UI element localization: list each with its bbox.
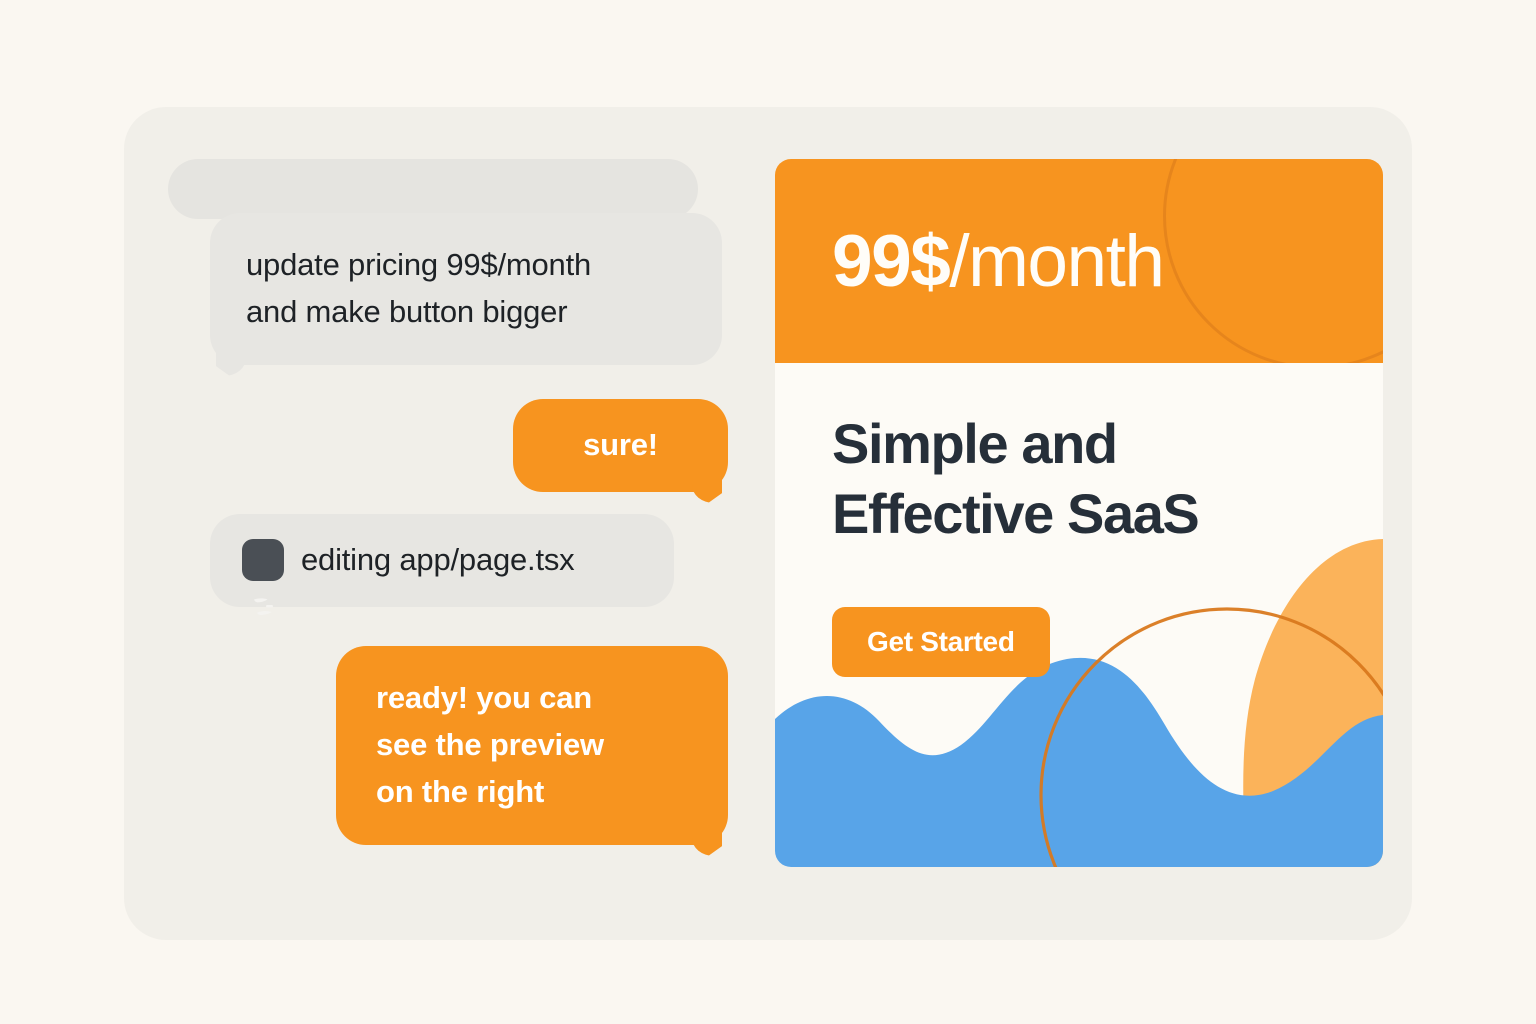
app-window: update pricing 99$/month and make button… [124,107,1412,940]
message-input[interactable] [168,159,698,219]
status-label: editing app/page.tsx [301,536,575,583]
chat-message-assistant-done: ready! you can see the preview on the ri… [336,646,728,845]
code-edit-icon [242,539,284,581]
preview-headline: Simple and Effective SaaS [832,409,1332,549]
get-started-button[interactable]: Get Started [832,607,1050,677]
preview-card: 99$/month Simple and Effective SaaS Get … [775,159,1383,867]
chat-message-status: editing app/page.tsx [210,514,674,607]
chat-message-user: update pricing 99$/month and make button… [210,213,722,365]
chat-message-assistant-ack: sure! [513,399,728,492]
chat-panel: update pricing 99$/month and make button… [168,159,698,899]
